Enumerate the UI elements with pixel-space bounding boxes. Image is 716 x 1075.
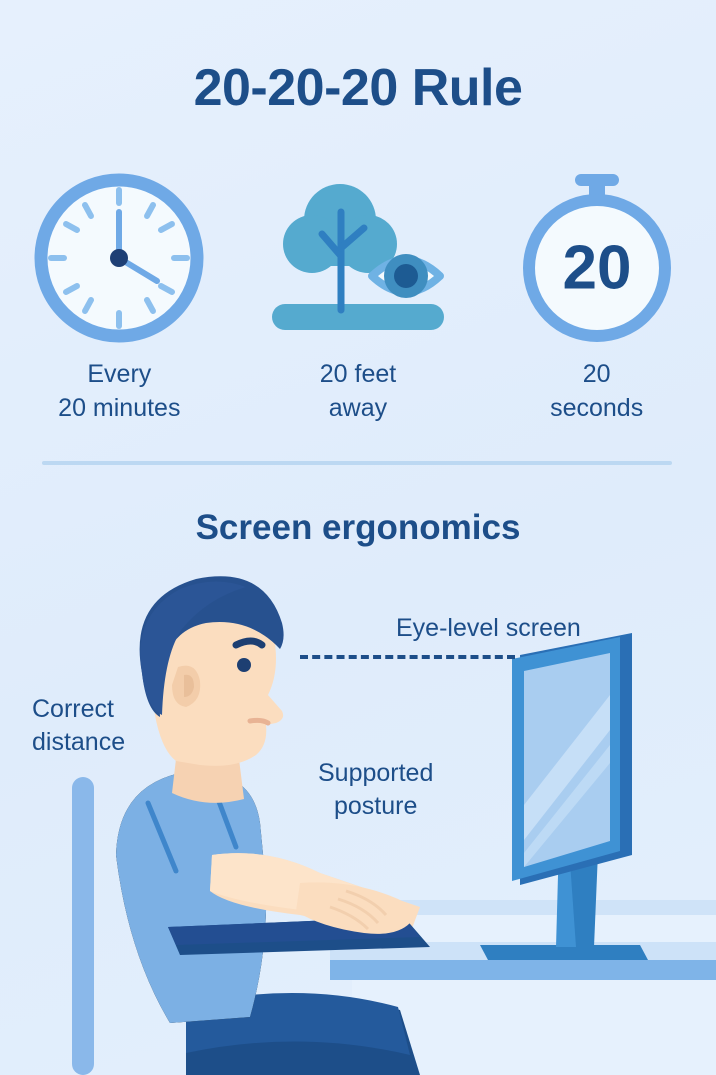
callout-line1: Supported xyxy=(318,759,433,787)
callout-supported-posture: Supported posture xyxy=(318,757,433,823)
rule-label-line1: Every xyxy=(87,360,151,388)
eye-level-dashed-line xyxy=(300,655,515,659)
rule-item-20-seconds: 20 20 seconds xyxy=(487,168,707,426)
callout-line1: Eye-level screen xyxy=(396,614,581,642)
rule-item-label: Every 20 minutes xyxy=(58,358,180,426)
section-divider xyxy=(42,461,672,465)
rule-label-line2: 20 minutes xyxy=(58,392,180,426)
callout-line1: Correct xyxy=(32,695,114,723)
tree-eye-icon xyxy=(268,168,448,348)
rule-item-20-feet-away: 20 feet away xyxy=(248,168,468,426)
ergonomics-illustration: Eye-level screen Correct distance Suppor… xyxy=(0,555,716,1075)
rule-label-line2: away xyxy=(320,392,396,426)
callout-eye-level-screen: Eye-level screen xyxy=(396,612,581,645)
callout-correct-distance: Correct distance xyxy=(32,693,125,759)
rule-label-line1: 20 feet xyxy=(320,360,396,388)
callout-line2: distance xyxy=(32,726,125,759)
callout-line2: posture xyxy=(318,790,433,823)
page-title: 20-20-20 Rule xyxy=(0,58,716,118)
rule-row: Every 20 minutes xyxy=(0,168,716,428)
chair xyxy=(72,777,94,1075)
stopwatch-value: 20 xyxy=(562,234,631,303)
head xyxy=(140,576,284,766)
stopwatch-icon: 20 xyxy=(507,168,687,348)
rule-label-line2: seconds xyxy=(550,392,643,426)
rule-item-label: 20 seconds xyxy=(550,358,643,426)
infographic-root: 20-20-20 Rule xyxy=(0,0,716,1075)
clock-icon xyxy=(29,168,209,348)
rule-item-every-20-minutes: Every 20 minutes xyxy=(9,168,229,426)
section-title: Screen ergonomics xyxy=(0,508,716,548)
rule-item-label: 20 feet away xyxy=(320,358,396,426)
rule-label-line1: 20 xyxy=(583,360,611,388)
